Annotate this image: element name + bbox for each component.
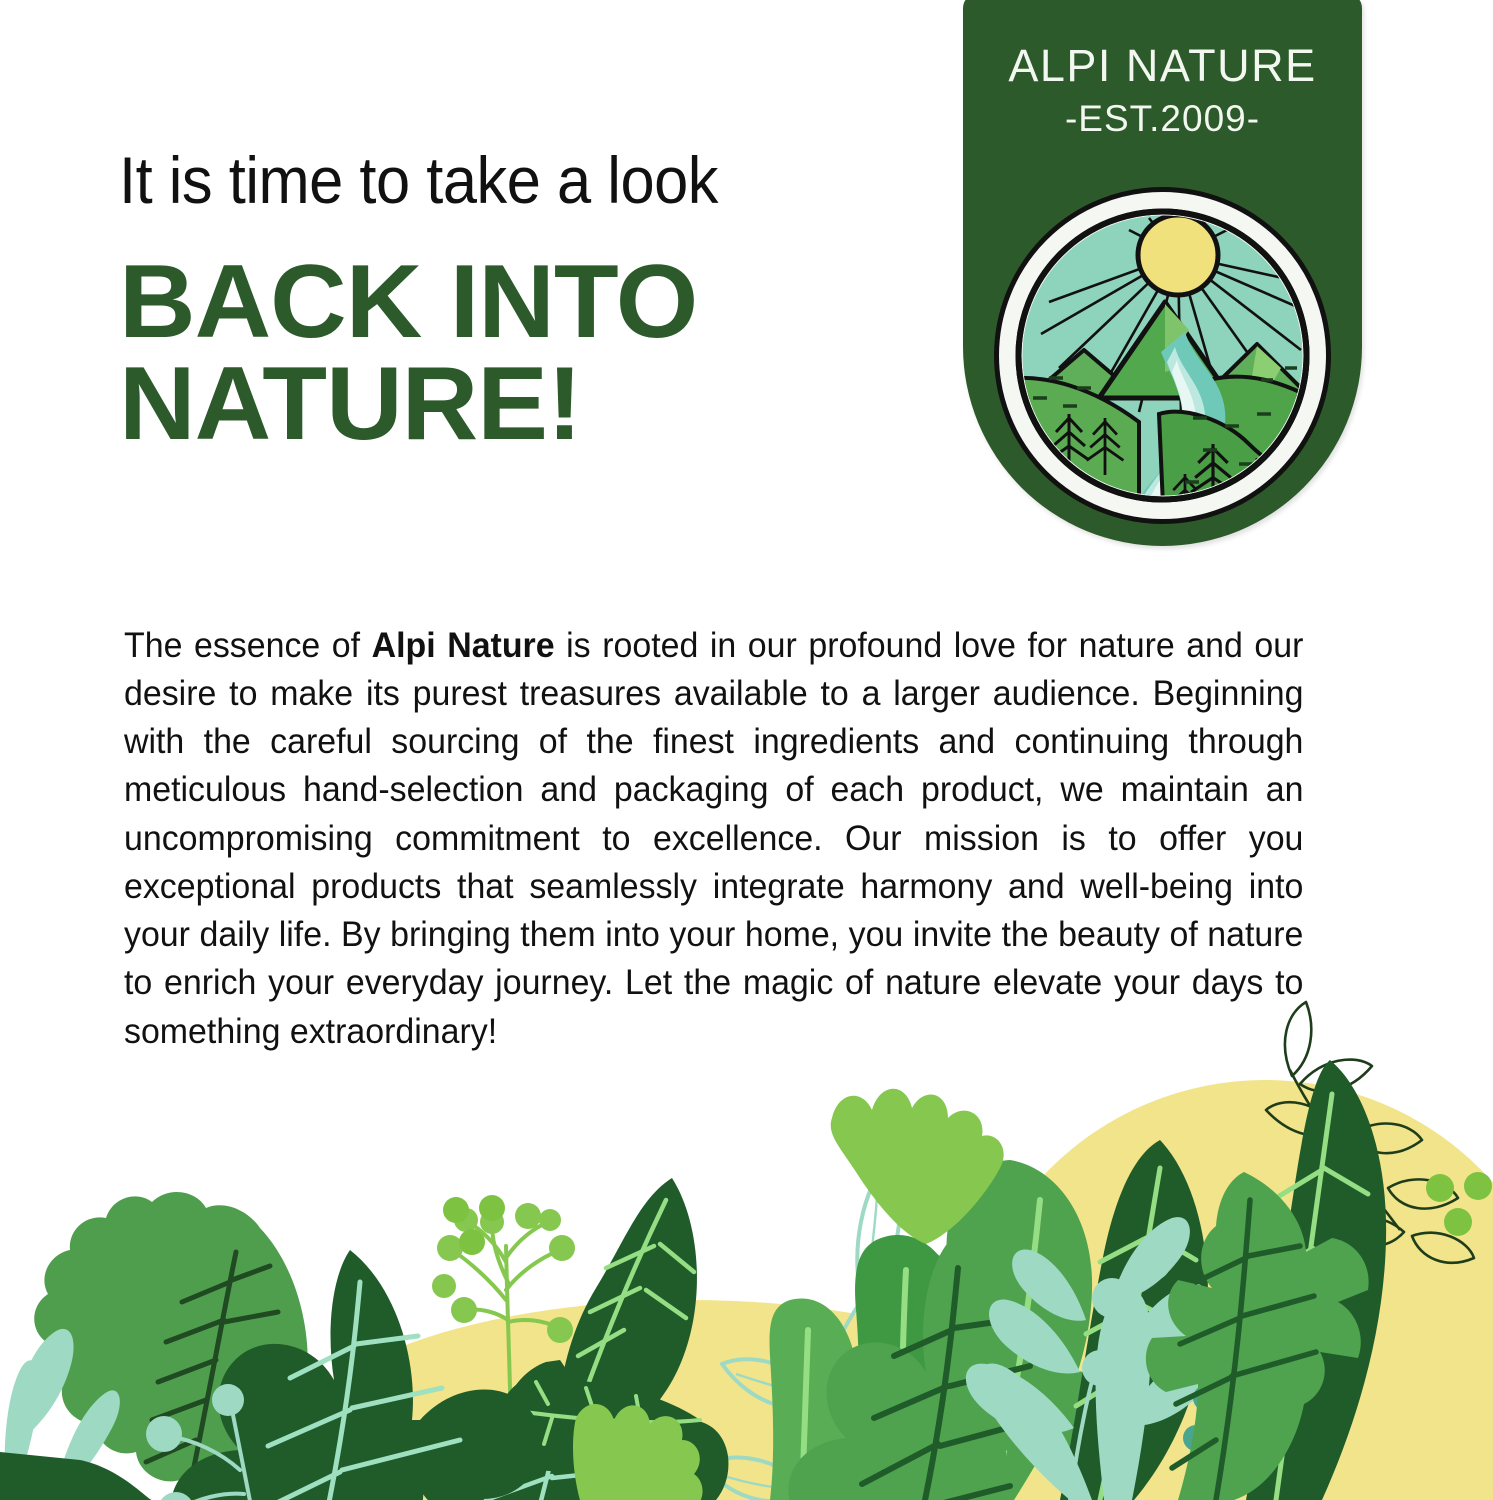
headline-line-2: NATURE! xyxy=(119,354,996,456)
hero-headline: BACK INTO NATURE! xyxy=(119,252,979,456)
hero-kicker: It is time to take a look xyxy=(119,147,718,213)
botanical-foliage-border xyxy=(0,1000,1493,1500)
about-paragraph: The essence of Alpi Nature is rooted in … xyxy=(124,621,1303,1055)
badge-brand-title: ALPI NATURE xyxy=(963,40,1362,92)
paragraph-lead-prefix: The essence of xyxy=(124,625,372,665)
badge-established-text: -EST.2009- xyxy=(963,98,1362,140)
headline-line-1: BACK INTO xyxy=(119,252,996,354)
paragraph-rest: is rooted in our profound love for natur… xyxy=(124,625,1303,1051)
mountain-sun-river-emblem-icon xyxy=(989,182,1336,529)
poster-canvas: ALPI NATURE -EST.2009- xyxy=(0,0,1493,1500)
brand-name-bold: Alpi Nature xyxy=(372,625,555,665)
brand-badge: ALPI NATURE -EST.2009- xyxy=(963,0,1362,546)
